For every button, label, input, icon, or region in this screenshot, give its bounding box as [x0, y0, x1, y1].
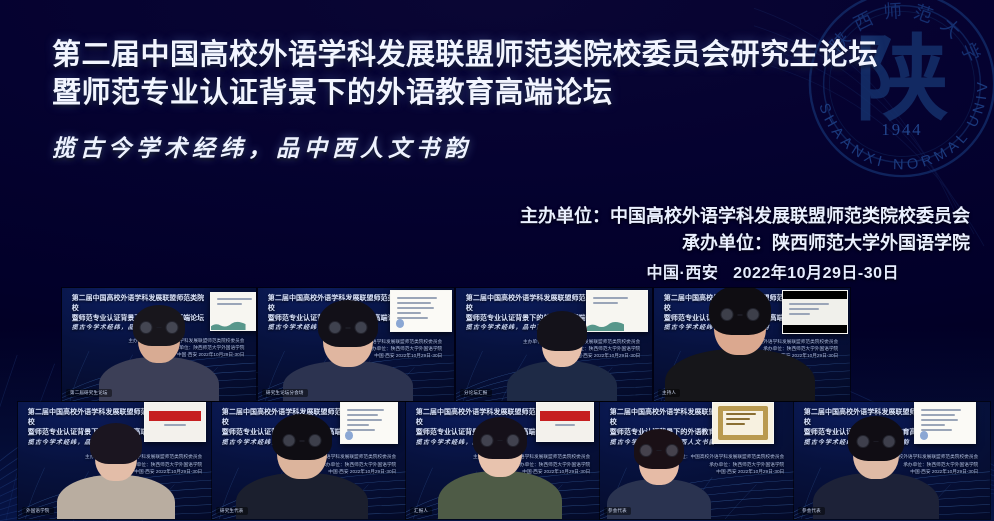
organiser-line: 承办单位：陕西师范大学外国语学院 [520, 230, 970, 257]
participant-tile[interactable]: 第二届中国高校外语学科发展联盟师范类院校 暨师范专业认证背景下的外语教育高端论坛… [62, 288, 256, 401]
participant-torso [99, 357, 219, 401]
participant-tile[interactable]: 第二届中国高校外语学科发展联盟师范类院校 暨师范专业认证背景下的外语教育高端论坛… [456, 288, 652, 401]
glasses-icon [481, 434, 520, 447]
page-title-line-2: 暨师范专业认证背景下的外语教育高端论坛 [52, 74, 882, 112]
participant-name-badge: 汇报人 [410, 507, 432, 515]
participant-hair [537, 311, 587, 350]
participant-tile[interactable]: 第二届中国高校外语学科发展联盟师范类院校 暨师范专业认证背景下的外语教育高端论坛… [654, 288, 850, 401]
date-text: 2022年10月29日-30日 [733, 265, 899, 282]
participant-tile[interactable]: 第二届中国高校外语学科发展联盟师范类院校 暨师范专业认证背景下的外语教育高端论坛… [212, 402, 408, 519]
participant-figure [665, 288, 815, 401]
participant-torso [507, 361, 617, 401]
headline-block: 第二届中国高校外语学科发展联盟师范类院校委员会研究生论坛 暨师范专业认证背景下的… [52, 36, 882, 164]
participant-name-badge: 分论坛汇报 [460, 389, 492, 397]
participant-tile[interactable]: 第二届中国高校外语学科发展联盟师范类院校 暨师范专业认证背景下的外语教育高端论坛… [258, 288, 454, 401]
participant-figure [438, 413, 562, 519]
glasses-icon [857, 435, 896, 448]
participant-figure [813, 413, 939, 519]
host-line: 主办单位：中国高校外语学科发展联盟师范类院校委员会 [520, 203, 970, 230]
organiser-value: 陕西师范大学外国语学院 [772, 233, 970, 253]
participant-torso [438, 471, 562, 519]
participant-figure [507, 307, 617, 401]
participant-tile[interactable]: 第二届中国高校外语学科发展联盟师范类院校 暨师范专业认证背景下的外语教育高端论坛… [406, 402, 602, 519]
participant-torso [57, 475, 175, 519]
participant-name-badge: 主持人 [658, 389, 680, 397]
participant-tile[interactable]: 第二届中国高校外语学科发展联盟师范类院校 暨师范专业认证背景下的外语教育高端论坛… [18, 402, 214, 519]
venue-and-date-line: 中国·西安 2022年10月29日-30日 [646, 262, 899, 286]
glasses-icon [721, 308, 760, 321]
glasses-icon [140, 321, 179, 334]
participant-name-badge: 第二届研究生论坛 [66, 389, 112, 397]
participant-torso [236, 473, 368, 519]
participant-name-badge: 参会代表 [798, 507, 825, 515]
participant-video-grid: 第二届中国高校外语学科发展联盟师范类院校 暨师范专业认证背景下的外语教育高端论坛… [0, 286, 994, 521]
host-value: 中国高校外语学科发展联盟师范类院校委员会 [610, 206, 970, 226]
glasses-icon [639, 444, 678, 457]
participant-name-badge: 参会代表 [604, 507, 631, 515]
organiser-block: 主办单位：中国高校外语学科发展联盟师范类院校委员会 承办单位：陕西师范大学外国语… [520, 203, 970, 257]
participant-torso [813, 473, 939, 519]
venue-text: 中国·西安 [646, 265, 718, 282]
participant-hair [90, 423, 142, 464]
conference-stream-canvas: 陕西师范大学 SHAANXI NORMAL UNIVERSITY 陕 1944 … [0, 0, 994, 521]
organiser-label: 承办单位： [682, 233, 772, 253]
host-label: 主办单位： [520, 206, 610, 226]
participant-torso [665, 349, 815, 401]
glasses-icon [329, 321, 368, 334]
svg-text:1944: 1944 [881, 120, 922, 139]
page-title-line-1: 第二届中国高校外语学科发展联盟师范类院校委员会研究生论坛 [52, 36, 882, 74]
shared-slide-thumbnail[interactable] [712, 402, 774, 444]
participant-figure [99, 301, 219, 401]
participant-figure [283, 297, 413, 401]
participant-tile[interactable]: 第二届中国高校外语学科发展联盟师范类院校 暨师范专业认证背景下的外语教育高端论坛… [794, 402, 990, 519]
participant-name-badge: 外国语学院 [22, 507, 54, 515]
participant-figure [57, 419, 175, 519]
participant-name-badge: 研究生论坛分会场 [262, 389, 308, 397]
participant-name-badge: 研究生代表 [216, 507, 248, 515]
calligraphy-subtitle: 揽古今学术经纬，品中西人文书韵 [52, 134, 882, 164]
glasses-icon [283, 434, 322, 447]
participant-tile[interactable]: 第二届中国高校外语学科发展联盟师范类院校 暨师范专业认证背景下的外语教育高端论坛… [600, 402, 796, 519]
participant-figure [607, 425, 711, 519]
participant-figure [236, 411, 368, 519]
